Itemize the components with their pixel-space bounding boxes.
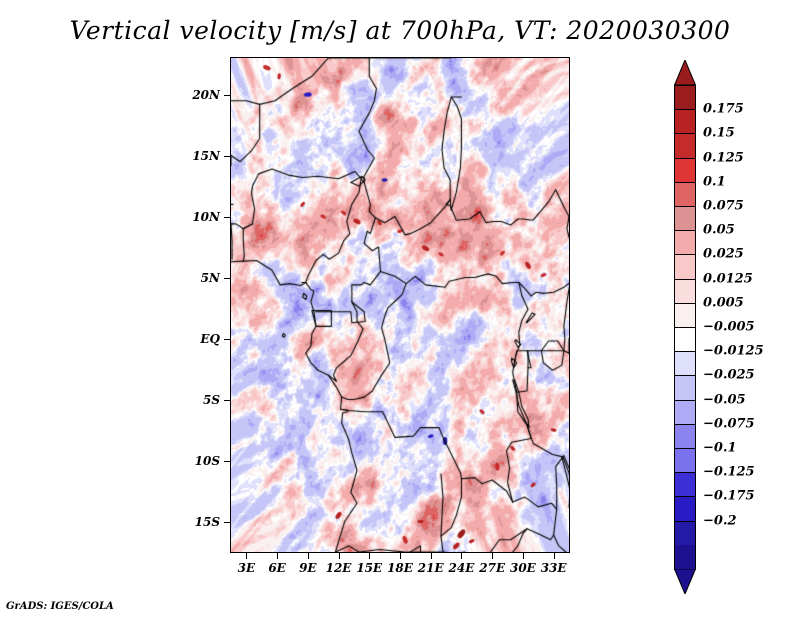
colorbar-extend-min-arrow: [674, 569, 696, 594]
y-axis-tick-label: 10S: [195, 454, 220, 468]
map-plot-area: [230, 57, 570, 553]
colorbar-tick-label: −0.1: [703, 441, 737, 456]
x-axis-tick-mark: [308, 553, 309, 559]
x-axis-tick-mark: [277, 553, 278, 559]
colorbar-tick-label: −0.025: [703, 368, 755, 383]
colorbar-swatch: [674, 472, 696, 497]
colorbar-swatch: [674, 182, 696, 207]
x-axis-tick-label: 18E: [387, 561, 413, 575]
y-axis-tick-label: 15N: [192, 149, 220, 163]
colorbar-tick-label: 0.1: [703, 174, 726, 189]
x-axis-tick-mark: [461, 553, 462, 559]
colorbar-divider: [674, 85, 696, 86]
colorbar-swatch: [674, 158, 696, 183]
colorbar-swatch: [674, 254, 696, 279]
colorbar-divider: [674, 351, 696, 352]
colorbar-swatch: [674, 230, 696, 255]
colorbar-swatch: [674, 424, 696, 449]
country-boundaries-overlay: [231, 58, 569, 552]
colorbar-swatch: [674, 279, 696, 304]
x-axis-tick-label: 27E: [479, 561, 505, 575]
colorbar-swatch: [674, 496, 696, 521]
colorbar-extend-max-arrow: [674, 60, 696, 85]
colorbar-swatch: [674, 303, 696, 328]
colorbar-tick-label: 0.175: [703, 102, 744, 117]
colorbar-swatch: [674, 109, 696, 134]
colorbar-swatch: [674, 133, 696, 158]
x-axis-tick-mark: [339, 553, 340, 559]
colorbar-swatch: [674, 327, 696, 352]
x-axis-tick-mark: [523, 553, 524, 559]
x-axis-tick-label: 12E: [326, 561, 352, 575]
colorbar-swatch: [674, 400, 696, 425]
x-axis-tick-mark: [369, 553, 370, 559]
colorbar-swatch: [674, 351, 696, 376]
colorbar-divider: [674, 472, 696, 473]
colorbar-tick-label: −0.2: [703, 513, 737, 528]
colorbar-swatch: [674, 521, 696, 546]
x-axis-tick-label: 21E: [418, 561, 444, 575]
x-axis-tick-mark: [246, 553, 247, 559]
colorbar-tick-label: −0.125: [703, 465, 755, 480]
colorbar-divider: [674, 496, 696, 497]
colorbar-divider: [674, 448, 696, 449]
y-axis-tick-label: 10N: [192, 210, 220, 224]
y-axis-tick-label: 20N: [192, 88, 220, 102]
colorbar-swatch: [674, 206, 696, 231]
colorbar-tick-label: −0.0125: [703, 344, 764, 359]
colorbar-tick-label: 0.005: [703, 295, 744, 310]
x-axis-tick-label: 24E: [449, 561, 475, 575]
x-axis-tick-label: 15E: [356, 561, 382, 575]
colorbar-tick-label: −0.005: [703, 320, 755, 335]
grads-plot-page: Vertical velocity [m/s] at 700hPa, VT: 2…: [0, 0, 800, 618]
x-axis-tick-label: 33E: [541, 561, 567, 575]
x-axis-tick-label: 3E: [238, 561, 256, 575]
colorbar-tick-label: −0.05: [703, 392, 746, 407]
x-axis-tick-label: 30E: [510, 561, 536, 575]
colorbar-swatch: [674, 545, 696, 570]
footer-credit: GrADS: IGES/COLA: [6, 601, 114, 612]
x-axis-tick-mark: [400, 553, 401, 559]
x-axis-tick-mark: [492, 553, 493, 559]
colorbar-divider: [674, 424, 696, 425]
x-axis-tick-label: 6E: [268, 561, 286, 575]
colorbar-divider: [674, 254, 696, 255]
colorbar-swatch: [674, 85, 696, 110]
colorbar-tick-label: 0.0125: [703, 271, 753, 286]
colorbar-swatch: [674, 448, 696, 473]
x-axis-tick-mark: [554, 553, 555, 559]
colorbar-tick-label: −0.175: [703, 489, 755, 504]
x-axis-tick-mark: [431, 553, 432, 559]
colorbar-tick-label: 0.05: [703, 223, 735, 238]
colorbar-divider: [674, 133, 696, 134]
y-axis-tick-label: 15S: [195, 515, 220, 529]
page-title: Vertical velocity [m/s] at 700hPa, VT: 2…: [0, 16, 800, 45]
colorbar-tick-label: 0.15: [703, 126, 735, 141]
colorbar-divider: [674, 109, 696, 110]
colorbar-tick-label: 0.075: [703, 199, 744, 214]
colorbar-divider: [674, 303, 696, 304]
colorbar-swatch: [674, 375, 696, 400]
y-axis-tick-label: 5S: [203, 393, 220, 407]
colorbar-divider: [674, 279, 696, 280]
colorbar-tick-label: 0.125: [703, 150, 744, 165]
colorbar-divider: [674, 158, 696, 159]
y-axis-tick-label: EQ: [200, 332, 220, 346]
colorbar-tick-label: 0.025: [703, 247, 744, 262]
colorbar-divider: [674, 327, 696, 328]
colorbar-divider: [674, 521, 696, 522]
colorbar-divider: [674, 400, 696, 401]
colorbar-tick-label: −0.075: [703, 416, 755, 431]
x-axis-tick-label: 9E: [299, 561, 317, 575]
colorbar-divider: [674, 230, 696, 231]
colorbar-divider: [674, 206, 696, 207]
colorbar-divider: [674, 375, 696, 376]
y-axis-tick-label: 5N: [201, 271, 220, 285]
colorbar-divider: [674, 182, 696, 183]
